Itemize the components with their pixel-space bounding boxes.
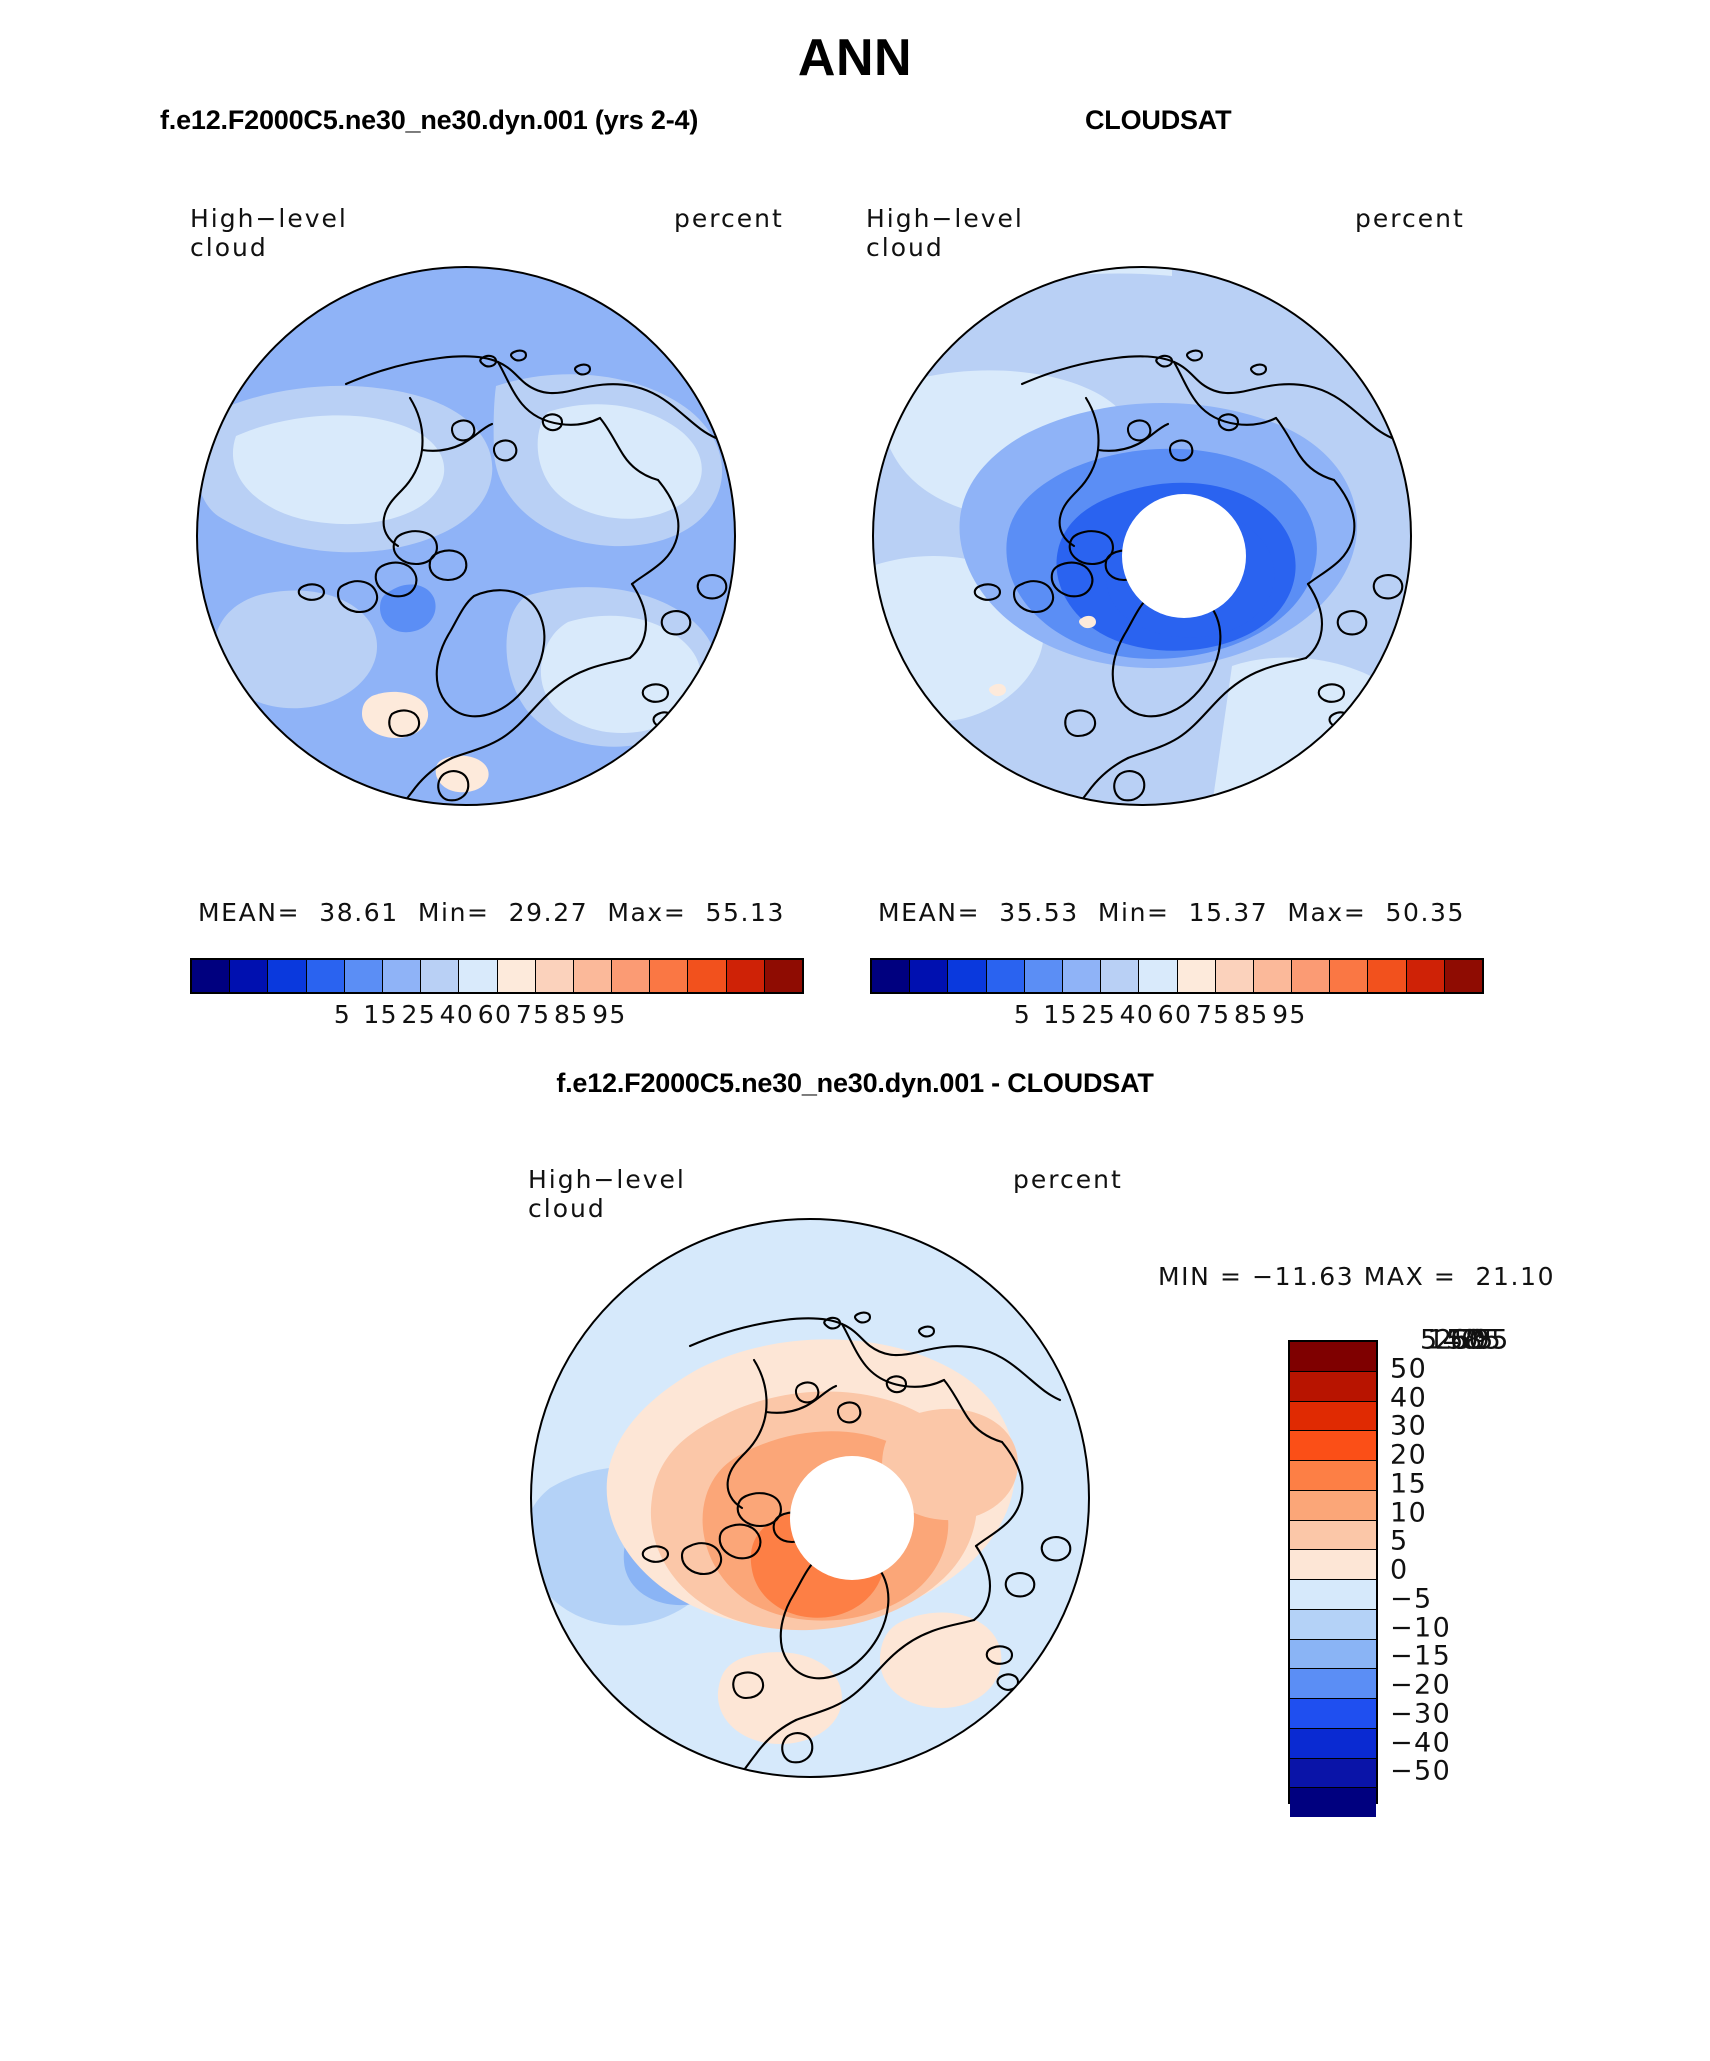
colorbar-cell — [948, 960, 986, 992]
colorbar-cell — [1290, 1640, 1376, 1670]
colorbar-cell — [688, 960, 726, 992]
colorbar-tick-label: 30 — [1390, 1411, 1427, 1442]
colorbar-tick-label: 60 — [1158, 1000, 1193, 1029]
colorbar-tick-label: 5 — [1014, 1000, 1031, 1029]
obs-map — [872, 266, 1412, 806]
colorbar-tick-label: 5 — [334, 1000, 351, 1029]
model-colorbar-ticks: 515254060758595 — [190, 1000, 800, 1032]
model-units-label: percent — [674, 204, 784, 233]
colorbar-cell — [987, 960, 1025, 992]
colorbar-tick-label: 60 — [478, 1000, 513, 1029]
season-title: ANN — [0, 28, 1710, 88]
colorbar-tick-label: 0 — [1390, 1555, 1409, 1586]
colorbar-tick-label: 40 — [1390, 1382, 1427, 1413]
colorbar-cell — [1290, 1788, 1376, 1817]
diff-polar-data-gap — [790, 1456, 914, 1580]
colorbar-cell — [192, 960, 230, 992]
obs-variable-label: High−level cloud — [866, 204, 1024, 262]
diff-colorbar-ticks: 51525406075859550403020151050−5−10−15−20… — [1390, 1340, 1510, 1800]
colorbar-cell — [612, 960, 650, 992]
colorbar-tick-label: 95 — [1473, 1325, 1510, 1356]
diff-minmax: MIN = −11.63 MAX = 21.10 — [1158, 1262, 1555, 1291]
colorbar-tick-label: 5 — [1390, 1526, 1409, 1557]
colorbar-cell — [1290, 1550, 1376, 1580]
colorbar-cell — [1290, 1431, 1376, 1461]
colorbar-tick-label: 85 — [1234, 1000, 1269, 1029]
colorbar-cell — [421, 960, 459, 992]
colorbar-tick-label: 25 — [401, 1000, 436, 1029]
diff-variable-label: High−level cloud — [528, 1165, 686, 1223]
colorbar-tick-label: 15 — [1390, 1468, 1427, 1499]
colorbar-tick-label: 75 — [516, 1000, 551, 1029]
colorbar-tick-label: 20 — [1390, 1440, 1427, 1471]
colorbar-cell — [1063, 960, 1101, 992]
colorbar-tick-label: 40 — [1120, 1000, 1155, 1029]
colorbar-cell — [1330, 960, 1368, 992]
colorbar-cell — [872, 960, 910, 992]
colorbar-cell — [1290, 1729, 1376, 1759]
colorbar-cell — [1254, 960, 1292, 992]
colorbar-cell — [650, 960, 688, 992]
model-colorbar[interactable] — [190, 958, 804, 994]
diff-units-label: percent — [1013, 1165, 1123, 1194]
colorbar-tick-label: 95 — [592, 1000, 627, 1029]
colorbar-cell — [383, 960, 421, 992]
colorbar-cell — [1290, 1461, 1376, 1491]
colorbar-cell — [1139, 960, 1177, 992]
obs-colorbar[interactable] — [870, 958, 1484, 994]
colorbar-cell — [1290, 1580, 1376, 1610]
colorbar-cell — [1290, 1669, 1376, 1699]
colorbar-cell — [268, 960, 306, 992]
colorbar-tick-label: 40 — [440, 1000, 475, 1029]
colorbar-cell — [1290, 1521, 1376, 1551]
colorbar-tick-label: 25 — [1081, 1000, 1116, 1029]
colorbar-cell — [1101, 960, 1139, 992]
model-map — [196, 266, 736, 806]
obs-stats: MEAN= 35.53 Min= 15.37 Max= 50.35 — [878, 898, 1465, 927]
colorbar-tick-label: −5 — [1390, 1583, 1433, 1614]
colorbar-cell — [1216, 960, 1254, 992]
colorbar-cell — [1290, 1610, 1376, 1640]
colorbar-tick-label: −10 — [1390, 1612, 1451, 1643]
obs-case-title: CLOUDSAT — [1085, 105, 1231, 136]
colorbar-cell — [1407, 960, 1445, 992]
colorbar-cell — [345, 960, 383, 992]
colorbar-tick-label: 75 — [1196, 1000, 1231, 1029]
colorbar-tick-label: 15 — [363, 1000, 398, 1029]
colorbar-cell — [498, 960, 536, 992]
model-case-title: f.e12.F2000C5.ne30_ne30.dyn.001 (yrs 2-4… — [160, 105, 698, 136]
colorbar-cell — [1290, 1342, 1376, 1372]
diff-colorbar[interactable] — [1288, 1340, 1378, 1804]
colorbar-tick-label: 15 — [1043, 1000, 1078, 1029]
colorbar-cell — [230, 960, 268, 992]
colorbar-cell — [459, 960, 497, 992]
diff-title: f.e12.F2000C5.ne30_ne30.dyn.001 - CLOUDS… — [0, 1068, 1710, 1099]
diff-map-contours — [530, 1218, 1090, 1778]
colorbar-cell — [1025, 960, 1063, 992]
colorbar-tick-label: −30 — [1390, 1698, 1451, 1729]
colorbar-tick-label: 50 — [1390, 1353, 1427, 1384]
obs-colorbar-ticks: 515254060758595 — [870, 1000, 1480, 1032]
colorbar-tick-label: 10 — [1390, 1497, 1427, 1528]
colorbar-cell — [307, 960, 345, 992]
model-stats: MEAN= 38.61 Min= 29.27 Max= 55.13 — [198, 898, 785, 927]
colorbar-cell — [727, 960, 765, 992]
colorbar-tick-label: 95 — [1272, 1000, 1307, 1029]
colorbar-tick-label: −50 — [1390, 1756, 1451, 1787]
colorbar-cell — [1290, 1491, 1376, 1521]
colorbar-cell — [765, 960, 802, 992]
diff-map — [530, 1218, 1090, 1778]
colorbar-cell — [1292, 960, 1330, 992]
colorbar-cell — [536, 960, 574, 992]
colorbar-cell — [1445, 960, 1482, 992]
colorbar-cell — [1178, 960, 1216, 992]
colorbar-cell — [1290, 1759, 1376, 1789]
obs-polar-data-gap — [1122, 494, 1246, 618]
obs-units-label: percent — [1355, 204, 1465, 233]
colorbar-cell — [1368, 960, 1406, 992]
colorbar-cell — [574, 960, 612, 992]
colorbar-cell — [1290, 1402, 1376, 1432]
colorbar-tick-label: 85 — [554, 1000, 589, 1029]
colorbar-tick-label: −15 — [1390, 1641, 1451, 1672]
colorbar-cell — [1290, 1372, 1376, 1402]
model-variable-label: High−level cloud — [190, 204, 348, 262]
colorbar-cell — [1290, 1699, 1376, 1729]
model-map-contours — [196, 266, 736, 806]
colorbar-tick-label: −40 — [1390, 1727, 1451, 1758]
obs-map-contours — [872, 266, 1412, 806]
colorbar-cell — [910, 960, 948, 992]
colorbar-tick-label: −20 — [1390, 1670, 1451, 1701]
